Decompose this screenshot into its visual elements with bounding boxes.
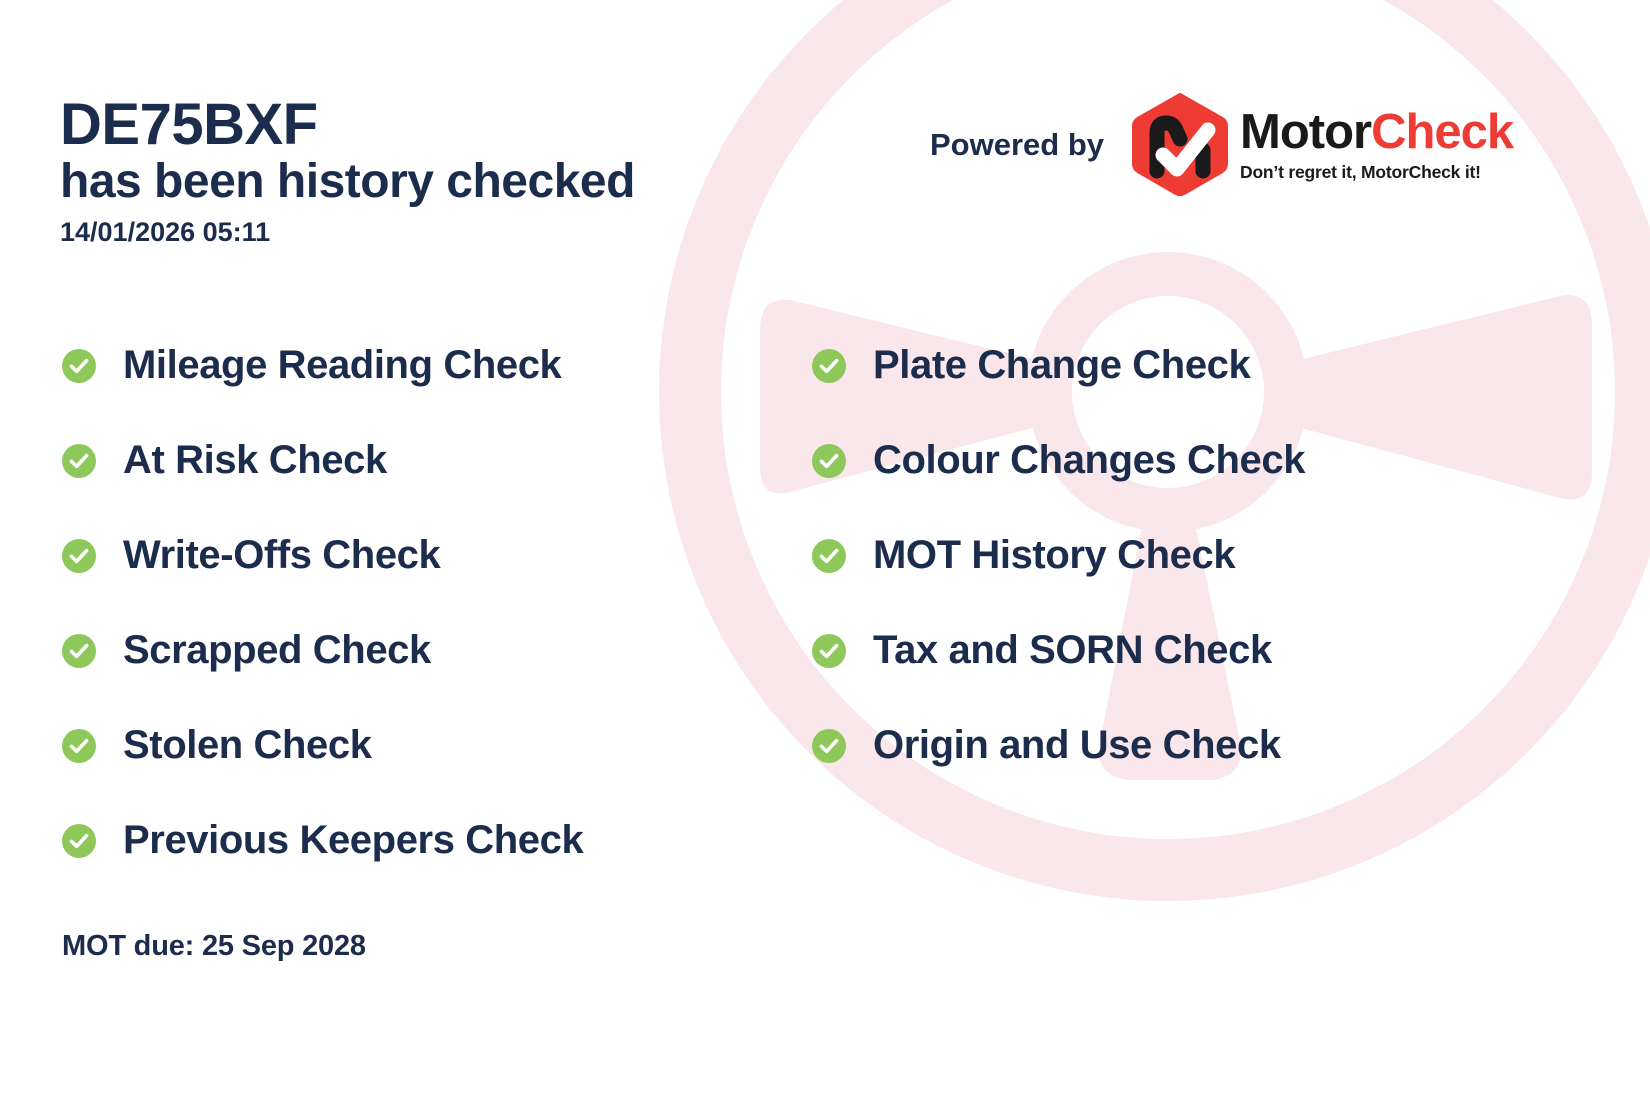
check-label: Origin and Use Check	[873, 723, 1281, 768]
motorcheck-wordmark: MotorCheck	[1240, 108, 1513, 157]
vehicle-history-check-card: DE75BXF has been history checked 14/01/2…	[0, 0, 1650, 1100]
motorcheck-wordmark-block: MotorCheck Don’t regret it, MotorCheck i…	[1240, 108, 1513, 183]
card-header: DE75BXF has been history checked 14/01/2…	[60, 95, 820, 248]
green-check-circle-icon	[62, 539, 96, 573]
list-item: MOT History Check	[812, 508, 1305, 603]
green-check-circle-icon	[62, 634, 96, 668]
check-label: Scrapped Check	[123, 628, 431, 673]
list-item: Scrapped Check	[62, 603, 583, 698]
check-label: Mileage Reading Check	[123, 343, 561, 388]
list-item: At Risk Check	[62, 413, 583, 508]
page-title: has been history checked	[60, 154, 820, 211]
list-item: Previous Keepers Check	[62, 793, 583, 888]
list-item: Plate Change Check	[812, 318, 1305, 413]
powered-by-branding: Powered by MotorCheck Don’t regret it, M…	[930, 108, 1513, 182]
green-check-circle-icon	[812, 634, 846, 668]
wordmark-check: Check	[1371, 105, 1513, 159]
list-item: Tax and SORN Check	[812, 603, 1305, 698]
green-check-circle-icon	[62, 729, 96, 763]
list-item: Write-Offs Check	[62, 508, 583, 603]
check-label: Write-Offs Check	[123, 533, 440, 578]
list-item: Colour Changes Check	[812, 413, 1305, 508]
registration-plate: DE75BXF	[60, 95, 820, 154]
powered-by-label: Powered by	[930, 127, 1104, 163]
green-check-circle-icon	[812, 729, 846, 763]
check-label: MOT History Check	[873, 533, 1235, 578]
list-item: Mileage Reading Check	[62, 318, 583, 413]
check-list-right-column: Plate Change Check Colour Changes Check …	[812, 318, 1305, 793]
green-check-circle-icon	[812, 539, 846, 573]
green-check-circle-icon	[812, 349, 846, 383]
green-check-circle-icon	[62, 444, 96, 478]
green-check-circle-icon	[62, 824, 96, 858]
mot-due-label: MOT due: 25 Sep 2028	[62, 930, 366, 963]
check-label: Previous Keepers Check	[123, 818, 583, 863]
list-item: Stolen Check	[62, 698, 583, 793]
check-timestamp: 14/01/2026 05:11	[60, 217, 820, 248]
check-label: Stolen Check	[123, 723, 372, 768]
list-item: Origin and Use Check	[812, 698, 1305, 793]
motorcheck-logo-icon	[1132, 93, 1228, 197]
check-label: Plate Change Check	[873, 343, 1250, 388]
check-list-left-column: Mileage Reading Check At Risk Check Writ…	[62, 318, 583, 888]
green-check-circle-icon	[812, 444, 846, 478]
check-label: Tax and SORN Check	[873, 628, 1272, 673]
wordmark-motor: Motor	[1240, 105, 1371, 159]
green-check-circle-icon	[62, 349, 96, 383]
check-label: Colour Changes Check	[873, 438, 1305, 483]
brand-tagline: Don’t regret it, MotorCheck it!	[1240, 162, 1513, 183]
check-label: At Risk Check	[123, 438, 387, 483]
